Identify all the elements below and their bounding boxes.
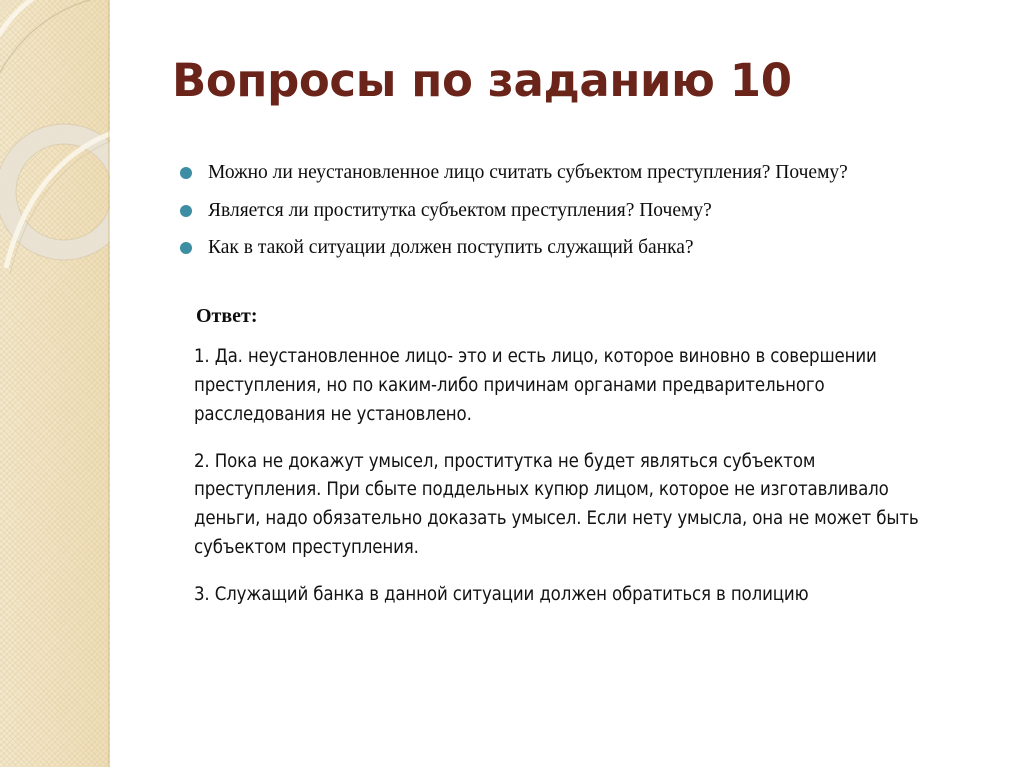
answer-paragraph: 3. Служащий банка в данной ситуации долж… bbox=[194, 581, 942, 610]
answer-body: 1. Да. неустановленное лицо- это и есть … bbox=[194, 343, 942, 628]
side-band-edge bbox=[108, 0, 110, 767]
upper-arc-stroke-light bbox=[0, 0, 110, 112]
question-text: Как в такой ситуации должен поступить сл… bbox=[208, 237, 694, 258]
list-item: Как в такой ситуации должен поступить сл… bbox=[178, 235, 938, 261]
answer-paragraph: 1. Да. неустановленное лицо- это и есть … bbox=[194, 343, 942, 430]
list-item: Является ли проститутка субъектом престу… bbox=[178, 198, 938, 224]
upper-arc-stroke-thin bbox=[0, 0, 110, 138]
bullet-dot-icon bbox=[180, 167, 192, 179]
bullet-dot-icon bbox=[180, 205, 192, 217]
question-text: Является ли проститутка субъектом престу… bbox=[208, 200, 712, 221]
side-band-ornament-svg bbox=[0, 0, 110, 767]
page-title: Вопросы по заданию 10 bbox=[172, 56, 972, 106]
ring-outline-inner bbox=[16, 144, 110, 240]
question-list: Можно ли неустановленное лицо считать су… bbox=[178, 160, 938, 273]
answer-paragraph: 2. Пока не докажут умысел, проститутка н… bbox=[194, 448, 942, 563]
upper-arc-fill bbox=[0, 0, 110, 115]
list-item: Можно ли неустановленное лицо считать су… bbox=[178, 160, 938, 186]
decorative-side-band bbox=[0, 0, 110, 767]
question-text: Можно ли неустановленное лицо считать су… bbox=[208, 162, 848, 183]
answer-label: Ответ: bbox=[196, 305, 258, 328]
slide: Вопросы по заданию 10 Можно ли неустанов… bbox=[0, 0, 1024, 767]
ring-thick bbox=[6, 134, 110, 250]
bullet-dot-icon bbox=[180, 242, 192, 254]
